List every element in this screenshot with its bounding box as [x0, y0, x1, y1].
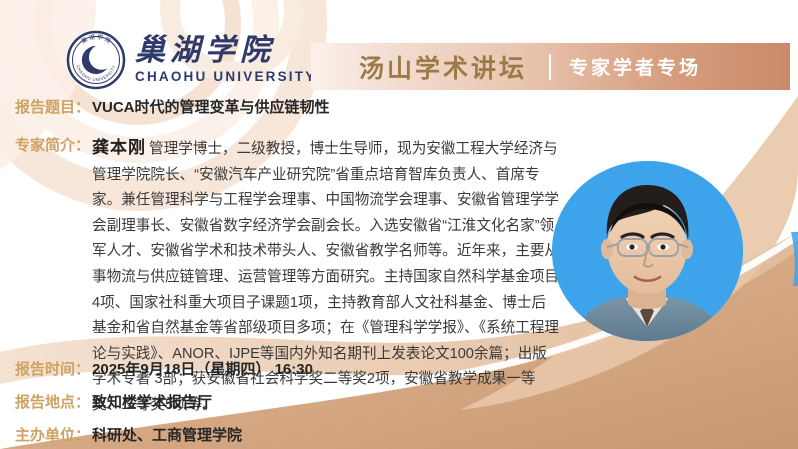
report-time-label: 报告时间：	[15, 358, 90, 379]
report-place-row: 报告地点： 致知楼学术报告厅	[15, 391, 212, 412]
organizer-value: 科研处、工商管理学院	[92, 424, 242, 445]
speaker-portrait	[552, 161, 743, 341]
report-place-label: 报告地点：	[15, 391, 90, 412]
report-place-value: 致知楼学术报告厅	[92, 391, 212, 412]
speaker-portrait-image	[552, 161, 743, 341]
report-title-row: 报告题目： VUCA时代的管理变革与供应链韧性	[15, 96, 330, 117]
report-time-value: 2025年9月18日（星期四） 16:30	[92, 358, 313, 379]
report-time-row: 报告时间： 2025年9月18日（星期四） 16:30	[15, 358, 313, 379]
report-title-label: 报告题目：	[15, 96, 90, 117]
speaker-bio-label: 专家简介：	[15, 133, 90, 155]
report-title-value: VUCA时代的管理变革与供应链韧性	[92, 96, 330, 117]
organizer-label: 主办单位：	[15, 424, 90, 445]
seminar-poster: 巢 湖 学 院 CHAOHU UNIVERSITY 巢湖学院 CHAOHU UN…	[0, 0, 798, 449]
speaker-name: 龚本刚	[92, 138, 146, 157]
organizer-row: 主办单位： 科研处、工商管理学院	[15, 424, 242, 445]
